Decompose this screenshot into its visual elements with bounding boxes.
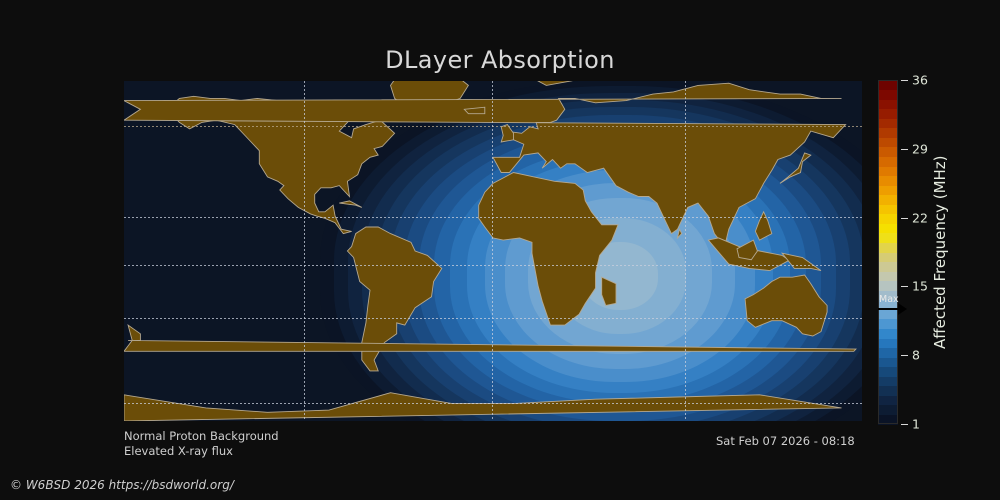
- colorbar-tick-label: 8: [912, 348, 920, 363]
- colorbar-tick-label: 15: [912, 279, 928, 294]
- timestamp: Sat Feb 07 2026 - 08:18: [716, 434, 855, 448]
- status-xray-flux: Elevated X-ray flux: [124, 444, 233, 458]
- colorbar-tick-label: 29: [912, 142, 928, 157]
- max-arrow-line: [878, 308, 900, 310]
- max-marker-label: Max: [879, 294, 899, 305]
- world-map[interactable]: [124, 81, 862, 421]
- landmass-africa: [479, 173, 618, 326]
- landmass-uk: [501, 125, 513, 142]
- landmass-antarctica: [124, 393, 842, 421]
- max-arrow-head: [898, 303, 907, 315]
- colorbar-tick-mark: [901, 286, 908, 287]
- map-canvas: [124, 81, 862, 421]
- app-root: DLayer Absorption 3629221581 Affected Fr…: [0, 0, 1000, 500]
- landmass-cuba: [339, 201, 362, 208]
- landmass-new-guinea: [782, 253, 821, 270]
- colorbar-tick-mark: [901, 424, 908, 425]
- colorbar-tick-mark: [901, 355, 908, 356]
- landmass-australia: [745, 275, 827, 336]
- colorbar-tick-mark: [901, 149, 908, 150]
- status-proton-background: Normal Proton Background: [124, 429, 279, 443]
- landmass-sri-lanka: [678, 229, 682, 238]
- landmass-new-zealand: [124, 325, 856, 351]
- landmass-svalbard: [538, 81, 571, 85]
- page-title: DLayer Absorption: [0, 46, 1000, 74]
- landmass-philippines: [755, 212, 771, 240]
- colorbar-tick-label: 22: [912, 211, 928, 226]
- colorbar-axis-title: Affected Frequency (MHz): [928, 80, 952, 424]
- colorbar-tick-mark: [901, 80, 908, 81]
- max-marker: Max: [878, 295, 912, 317]
- landmass-madagascar: [602, 277, 616, 305]
- colorbar-tick-mark: [901, 218, 908, 219]
- coastline-layer: [124, 81, 862, 421]
- copyright-notice: © W6BSD 2026 https://bsdworld.org/: [10, 478, 234, 492]
- colorbar-tick-label: 36: [912, 73, 928, 88]
- colorbar-border: [878, 80, 898, 424]
- colorbar-tick-label: 1: [912, 417, 920, 432]
